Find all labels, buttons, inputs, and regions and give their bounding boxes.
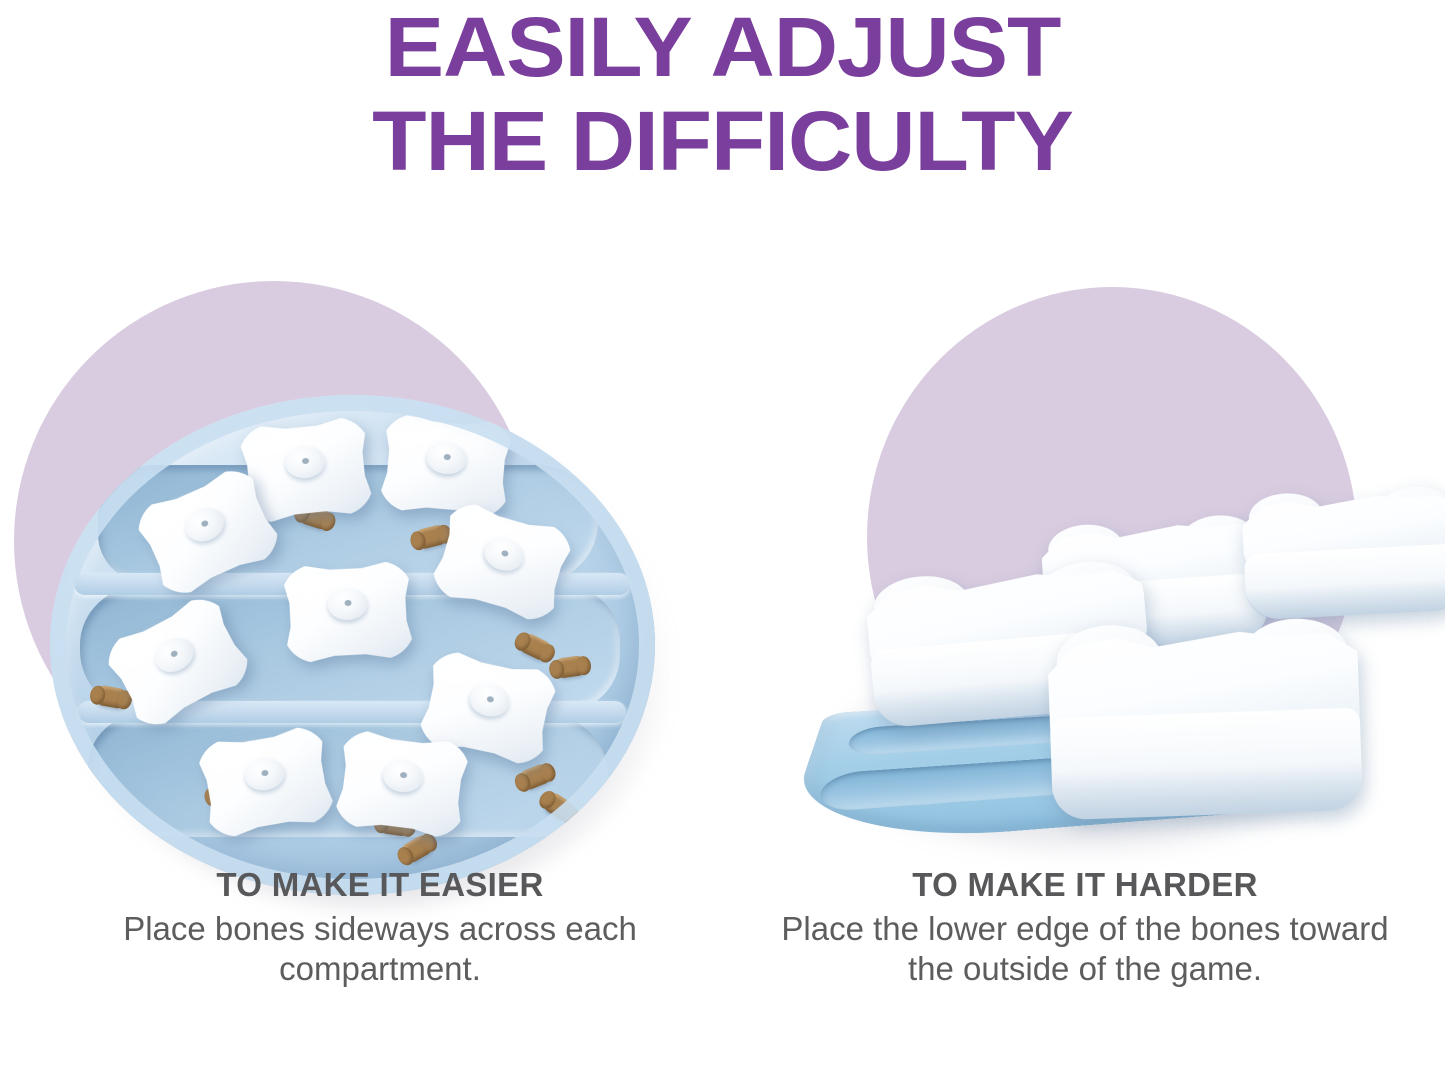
headline-line-1: EASILY ADJUST <box>0 2 1445 88</box>
treat-kibble <box>399 833 435 865</box>
caption-harder: TO MAKE IT HARDER Place the lower edge o… <box>740 866 1430 989</box>
captions-row: TO MAKE IT EASIER Place bones sideways a… <box>0 866 1445 1084</box>
product-photo-easier <box>45 375 670 895</box>
caption-harder-body: Place the lower edge of the bones toward… <box>740 909 1430 990</box>
bone-piece-upright <box>1241 491 1445 620</box>
caption-easier-title: TO MAKE IT EASIER <box>30 866 730 905</box>
bone-piece <box>331 727 474 840</box>
bone-piece <box>376 411 516 520</box>
puzzle-tray-topdown <box>50 395 655 895</box>
panels-row <box>0 255 1445 895</box>
infographic-page: EASILY ADJUST THE DIFFICULTY <box>0 0 1445 1084</box>
caption-harder-title: TO MAKE IT HARDER <box>740 866 1430 905</box>
page-title: EASILY ADJUST THE DIFFICULTY <box>0 2 1445 183</box>
bone-piece <box>280 560 417 665</box>
product-photo-harder <box>782 405 1422 875</box>
bone-shade <box>1052 762 1363 820</box>
bone-piece-upright <box>1047 628 1363 821</box>
panel-easier <box>0 255 722 895</box>
headline-line-2: THE DIFFICULTY <box>0 88 1445 182</box>
caption-easier: TO MAKE IT EASIER Place bones sideways a… <box>30 866 730 989</box>
caption-easier-body: Place bones sideways across each compart… <box>30 909 730 990</box>
panel-harder <box>722 255 1445 895</box>
